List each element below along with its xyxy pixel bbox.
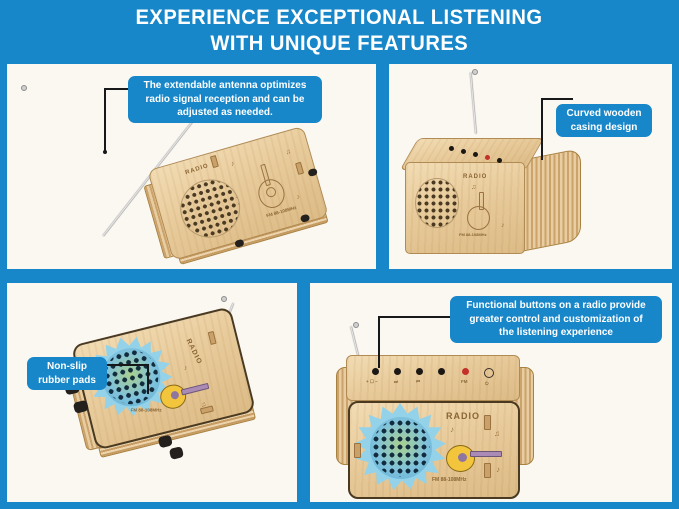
- callout-line-1: The extendable antenna optimizes: [134, 79, 316, 93]
- previous-track-button-label: ⏮: [416, 379, 420, 384]
- page-title: EXPERIENCE EXCEPTIONAL LISTENING WITH UN…: [0, 0, 679, 62]
- callout-anchor-dot: [103, 150, 107, 154]
- fm-button[interactable]: [485, 155, 490, 160]
- assembly-slot: [484, 463, 491, 478]
- next-track-button-label: ⏭: [394, 379, 398, 384]
- guitar-sound-hole: [458, 453, 467, 462]
- fm-button[interactable]: [462, 368, 469, 375]
- guitar-neck: [470, 451, 502, 457]
- radio-device: RADIO ♫ ♪ FM 88-108MHz: [403, 136, 593, 252]
- callout-leader-line: [541, 98, 543, 160]
- power-button-label: ⏻: [485, 381, 489, 386]
- callout-buttons: Functional buttons on a radio provide gr…: [450, 296, 662, 343]
- next-track-button[interactable]: [394, 368, 401, 375]
- control-button[interactable]: [461, 149, 466, 154]
- radio-curved-side: [521, 148, 581, 252]
- assembly-slot: [484, 415, 491, 430]
- page-title-line-1: EXPERIENCE EXCEPTIONAL LISTENING: [136, 5, 543, 31]
- speaker-grille: [415, 178, 459, 228]
- antenna-rod: [470, 72, 477, 134]
- callout-rubber-pads: Non-slip rubber pads: [27, 357, 107, 390]
- power-button[interactable]: [484, 368, 494, 378]
- volume-button[interactable]: [372, 368, 379, 375]
- guitar-engraving: [465, 192, 495, 228]
- control-button[interactable]: [473, 152, 478, 157]
- music-note-icon: ♪: [496, 465, 500, 474]
- callout-leader-line: [378, 316, 380, 368]
- radio-band-text: FM 88-108MHz: [459, 232, 487, 237]
- radio-device: RADIO ♪ ♫ FM 88-108MHz: [55, 302, 271, 483]
- callout-leader-line: [378, 316, 452, 318]
- guitar-decal: [446, 437, 502, 473]
- callout-line-3: adjusted as needed.: [134, 106, 316, 120]
- volume-button-label: + ☐ −: [366, 379, 378, 385]
- rubber-pad: [158, 434, 173, 448]
- callout-line-1: Non-slip: [33, 360, 101, 374]
- music-note-icon: ♪: [501, 222, 505, 229]
- music-note-icon: ♫: [494, 429, 500, 438]
- guitar-neck: [479, 192, 484, 210]
- callout-line-2: greater control and customization of: [456, 313, 656, 327]
- radio-brand-text: RADIO: [446, 411, 480, 421]
- page-title-line-2: WITH UNIQUE FEATURES: [211, 31, 469, 57]
- radio-top-panel: [346, 355, 520, 401]
- radio-band-text: FM 88-108MHz: [432, 477, 466, 483]
- fm-button-label: FM: [461, 379, 468, 384]
- callout-line-2: casing design: [562, 121, 646, 135]
- guitar-neck: [181, 383, 210, 396]
- music-note-icon: ♪: [450, 425, 454, 434]
- callout-leader-line: [104, 88, 106, 152]
- callout-line-2: rubber pads: [33, 374, 101, 388]
- rubber-pads-feature-panel: RADIO ♪ ♫ FM 88-108MHz: [7, 283, 297, 502]
- antenna-tip-icon: [472, 69, 478, 75]
- radio-band-text: FM 88-108MHz: [131, 408, 162, 413]
- radio-brand-text: RADIO: [463, 174, 487, 180]
- rubber-pad: [169, 446, 184, 460]
- radio-device: RADIO ♪ ♫ ♪ FM 88-108MHz: [145, 125, 334, 269]
- callout-leader-line: [147, 364, 149, 394]
- assembly-slot: [354, 443, 361, 458]
- infographic-root: EXPERIENCE EXCEPTIONAL LISTENING WITH UN…: [0, 0, 679, 509]
- antenna-tip-icon: [353, 322, 359, 328]
- callout-leader-line: [541, 98, 573, 100]
- callout-line-1: Curved wooden: [562, 107, 646, 121]
- speaker-grille: [372, 419, 430, 477]
- antenna-tip-icon: [221, 296, 227, 302]
- callout-line-3: the listening experience: [456, 326, 656, 340]
- power-button[interactable]: [497, 158, 502, 163]
- callout-antenna: The extendable antenna optimizes radio s…: [128, 76, 322, 123]
- callout-line-1: Functional buttons on a radio provide: [456, 299, 656, 313]
- control-button[interactable]: [438, 368, 445, 375]
- radio-device: + ☐ − ⏭ ⏮ FM ⏻ RADIO ♪ ♫ ♪ FM 88-108MHz: [328, 355, 548, 497]
- antenna-tip-icon: [21, 85, 27, 91]
- control-button[interactable]: [449, 146, 454, 151]
- callout-line-2: radio signal reception and can be: [134, 93, 316, 107]
- casing-feature-panel: RADIO ♫ ♪ FM 88-108MHz: [389, 64, 672, 269]
- music-note-icon: ♫: [471, 184, 476, 191]
- callout-casing: Curved wooden casing design: [556, 104, 652, 137]
- previous-track-button[interactable]: [416, 368, 423, 375]
